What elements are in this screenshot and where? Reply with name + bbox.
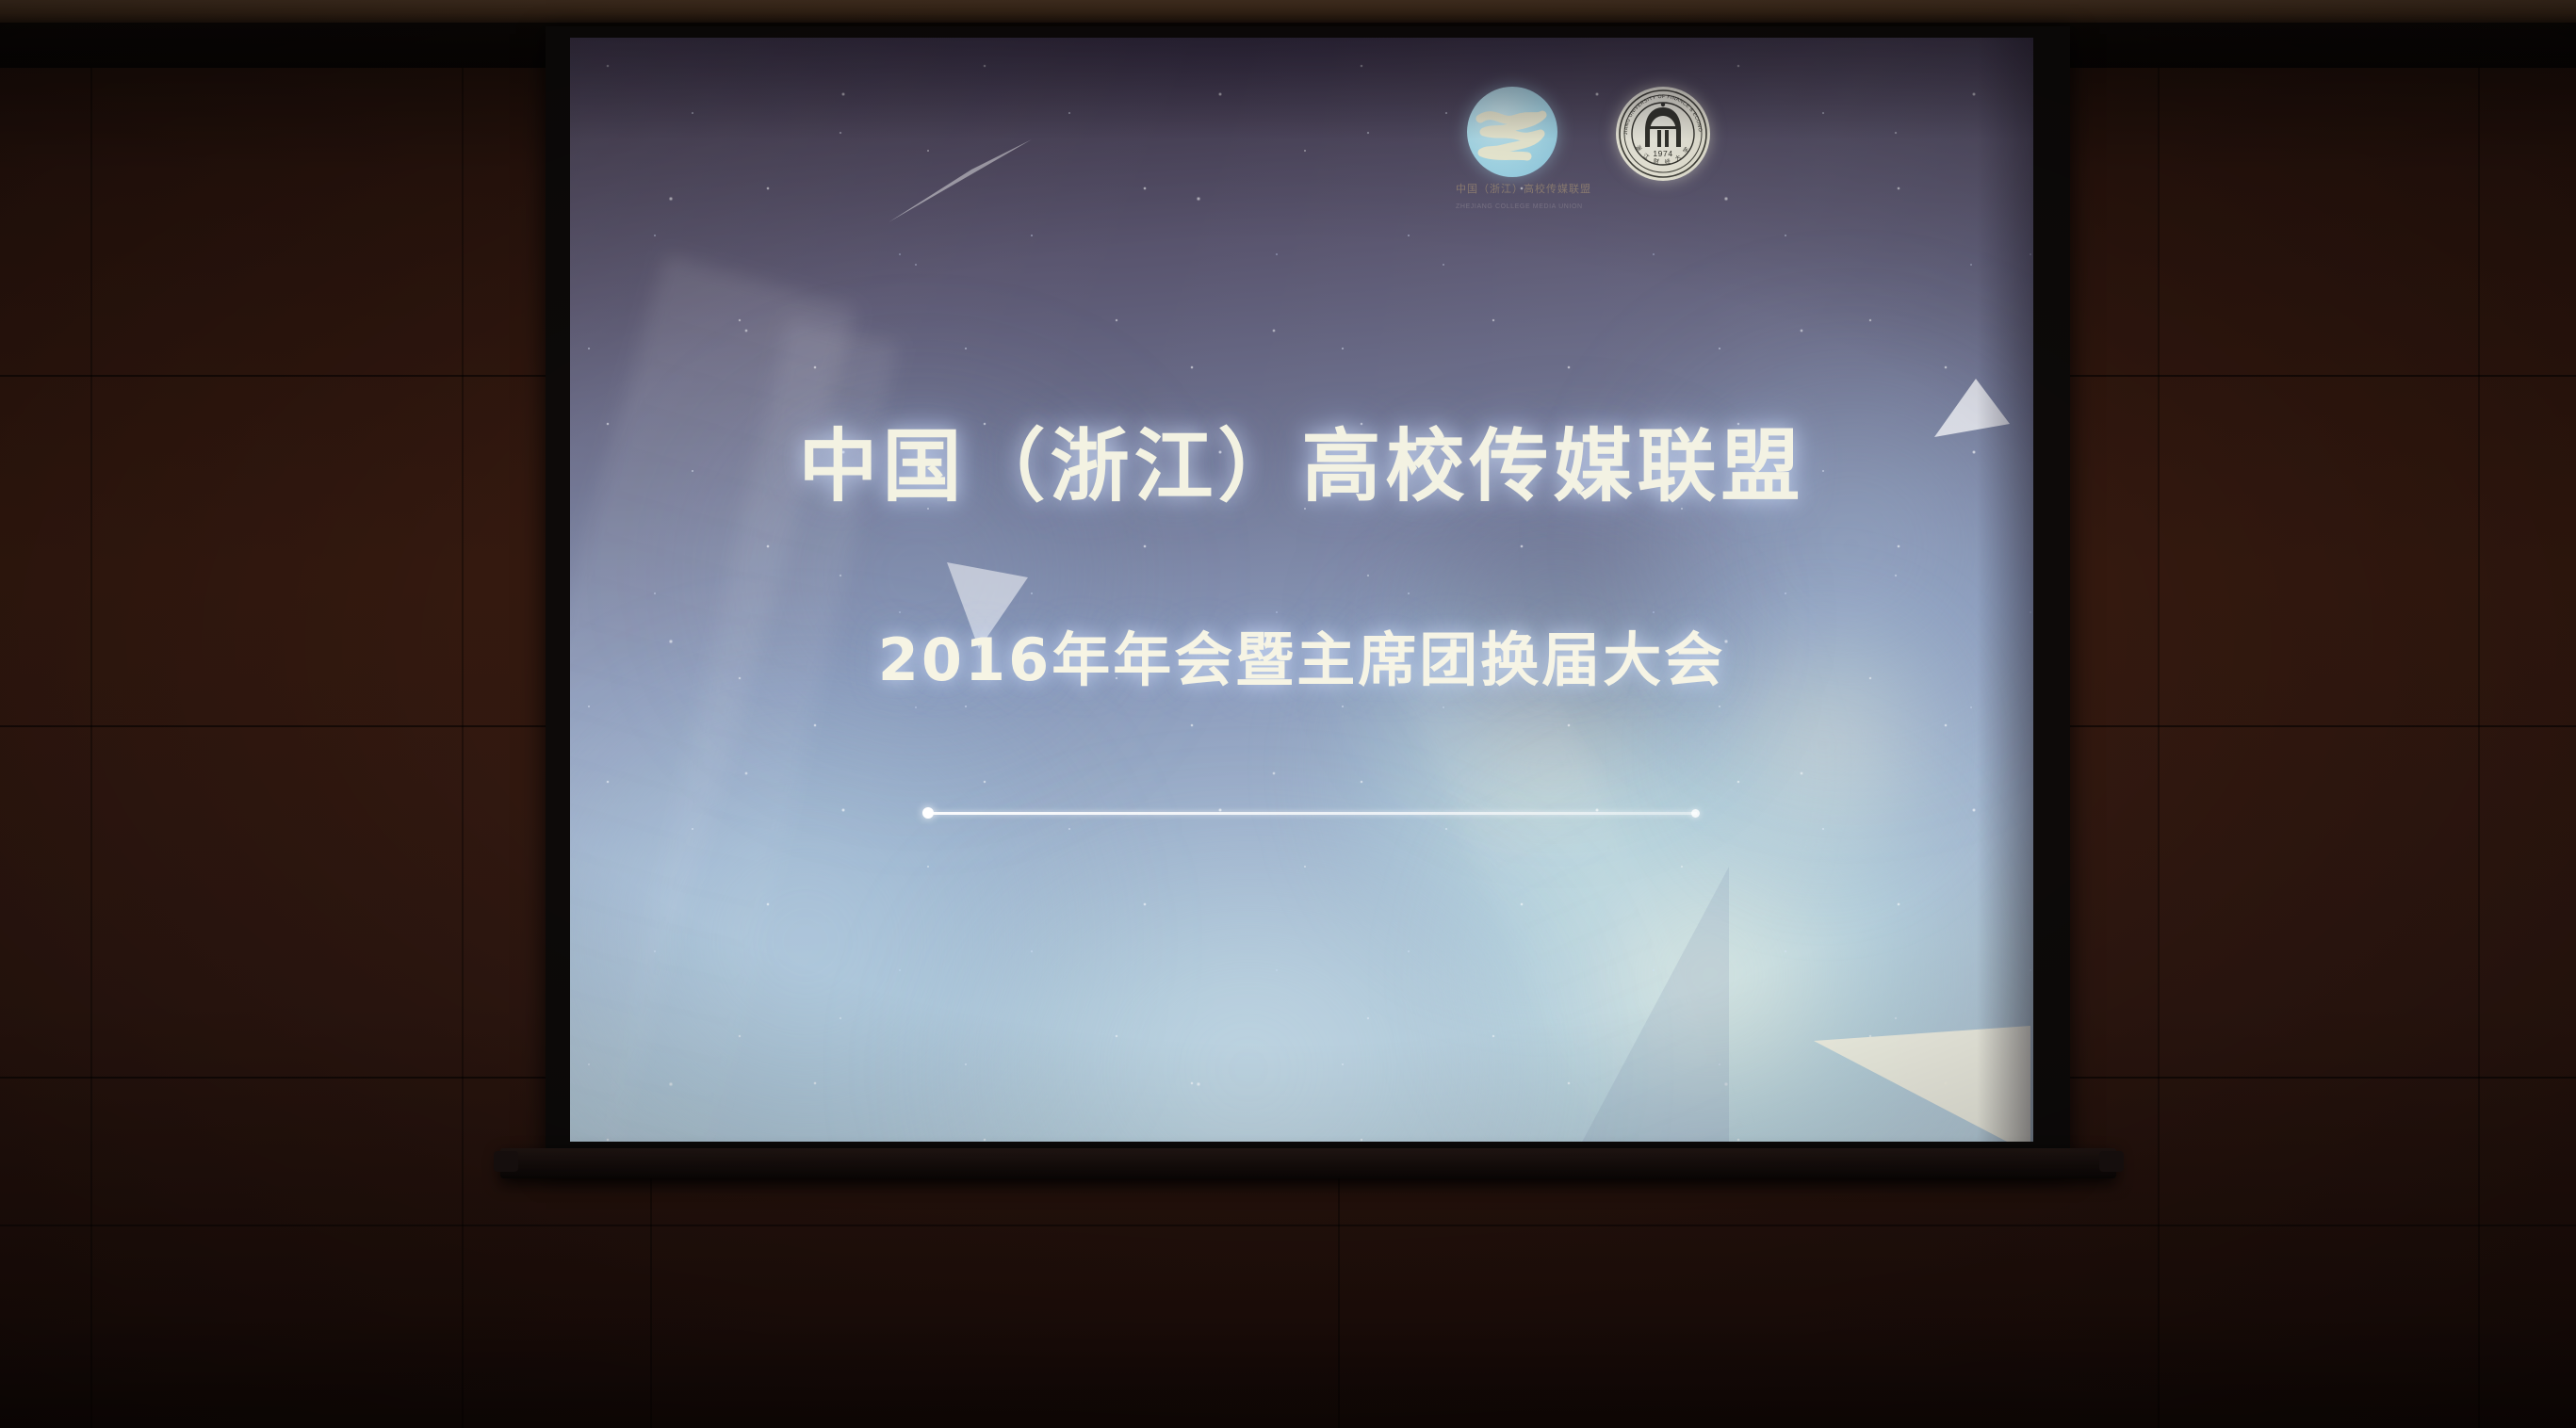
nebula-cloud (890, 867, 1606, 1142)
union-logo-caption-cn: 中国（浙江）高校传媒联盟 (1456, 184, 1569, 197)
light-beam (1395, 619, 1769, 1142)
wall-panel-seam-vertical (2478, 0, 2480, 1428)
wall-panel-seam-vertical (1338, 1177, 1340, 1428)
slide-divider-dot-right (1691, 809, 1700, 818)
union-logo-circle (1467, 87, 1557, 177)
projection-sheen (570, 38, 2033, 1142)
screen-bar-end-right (2099, 1151, 2124, 1172)
starfield-layer-bright (570, 38, 2033, 1142)
wall-panel-seam (0, 1225, 2576, 1226)
wall-panel-seam-vertical (650, 1177, 652, 1428)
starfield-layer (570, 38, 2033, 1142)
slide-divider-dot-left (922, 807, 934, 819)
projection-screen-surface: 中国（浙江）高校传媒联盟 ZHEJIANG COLLEGE MEDIA UNIO… (570, 38, 2033, 1142)
wall-panel-seam-vertical (2158, 0, 2160, 1428)
union-logo: 中国（浙江）高校传媒联盟 ZHEJIANG COLLEGE MEDIA UNIO… (1467, 87, 1580, 212)
nebula-cloud (570, 697, 1098, 1142)
union-logo-caption-en: ZHEJIANG COLLEGE MEDIA UNION (1456, 203, 1569, 212)
wall-panel-seam-vertical (462, 0, 464, 1428)
projection-screen-weight-bar (500, 1148, 2116, 1178)
river-mark-icon (1467, 87, 1557, 177)
projection-right-falloff (1977, 38, 2033, 1142)
university-seal: ZHEJIANG UNIVERSITY OF FINANCE & ECONOMI… (1616, 87, 1710, 181)
light-beam (570, 254, 856, 1142)
triangle-shadow-icon (1493, 867, 1738, 1142)
university-seal-icon: ZHEJIANG UNIVERSITY OF FINANCE & ECONOMI… (1616, 87, 1710, 181)
slide-main-title: 中国（浙江）高校传媒联盟 (570, 403, 2033, 517)
triangle-bottom-right-icon (1814, 1013, 2033, 1142)
triangle-top-left-icon (881, 132, 1041, 235)
slide-sub-title: 2016年年会暨主席团换届大会 (570, 612, 2033, 697)
logo-row: 中国（浙江）高校传媒联盟 ZHEJIANG COLLEGE MEDIA UNIO… (1467, 87, 1710, 212)
wall-panel-seam-vertical (90, 0, 92, 1428)
seal-year: 1974 (1653, 149, 1672, 158)
screen-bar-end-left (494, 1151, 518, 1172)
projection-top-falloff (570, 38, 2033, 139)
slide-divider-line (926, 812, 1697, 815)
